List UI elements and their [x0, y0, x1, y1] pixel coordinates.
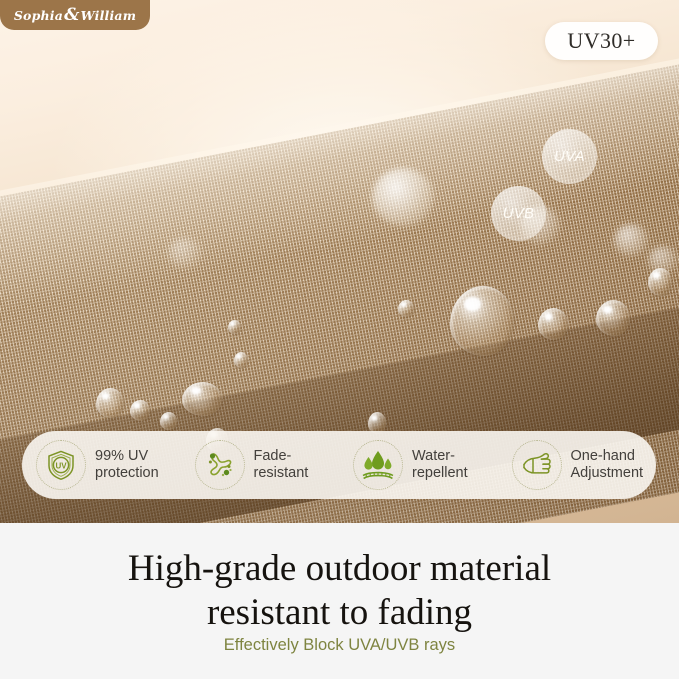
water-droplet	[648, 268, 672, 296]
one-hand-adjustment-icon	[512, 440, 562, 490]
water-droplet	[96, 388, 124, 418]
feature-label: One-hand Adjustment	[571, 448, 644, 482]
bokeh-light	[168, 238, 202, 268]
page-subtitle: Effectively Block UVA/UVB rays	[0, 636, 679, 655]
uva-bubble: UVA	[542, 129, 597, 184]
brand-ampersand: &	[63, 5, 81, 25]
brand-name-second: William	[81, 8, 137, 23]
brand-name-first: Sophia	[14, 8, 63, 23]
feature-highlights-bar: UV 99% UV protection	[22, 431, 656, 499]
feature-one-hand-adjustment: One-hand Adjustment	[498, 440, 657, 490]
fade-resistant-icon	[195, 440, 245, 490]
water-droplet	[160, 412, 177, 430]
page-title: High-grade outdoor material resistant to…	[0, 547, 679, 634]
hero-photo: UVA UVB UV30+ Sophia&William UV	[0, 0, 679, 523]
water-droplet	[538, 308, 568, 340]
brand-logo-text: Sophia&William	[14, 5, 136, 25]
feature-water-repellent: Water- repellent	[339, 440, 498, 490]
uv-rating-label: UV30+	[567, 28, 635, 54]
feature-label: 99% UV protection	[95, 448, 159, 482]
bokeh-light	[372, 168, 434, 226]
water-droplet	[450, 286, 514, 356]
water-droplet	[130, 400, 150, 421]
svg-text:UV: UV	[55, 461, 67, 470]
bottom-text-section: High-grade outdoor material resistant to…	[0, 523, 679, 679]
uv-rating-badge: UV30+	[545, 22, 658, 60]
water-droplet	[228, 320, 241, 334]
water-droplet	[182, 382, 222, 416]
water-droplet	[234, 352, 248, 368]
feature-label: Water- repellent	[412, 448, 468, 482]
uva-label: UVA	[554, 148, 585, 165]
water-repellent-icon	[353, 440, 403, 490]
water-droplet	[398, 300, 414, 317]
uvb-label: UVB	[503, 205, 535, 222]
feature-fade-resistant: Fade- resistant	[181, 440, 340, 490]
product-feature-image: UVA UVB UV30+ Sophia&William UV	[0, 0, 679, 679]
uv-shield-icon: UV	[36, 440, 86, 490]
feature-uv-protection: UV 99% UV protection	[22, 440, 181, 490]
feature-label: Fade- resistant	[254, 448, 309, 482]
water-droplet	[596, 300, 630, 336]
uvb-bubble: UVB	[491, 186, 546, 241]
bokeh-light	[614, 224, 648, 256]
brand-logo-badge: Sophia&William	[0, 0, 150, 30]
